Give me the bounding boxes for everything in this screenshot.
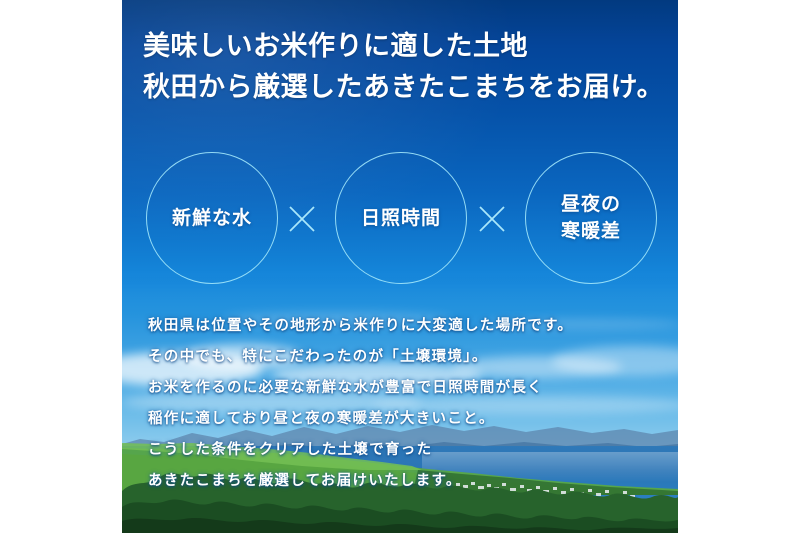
factor-circles-row: 新鮮な水 日照時間 昼夜の 寒暖差 (122, 150, 678, 290)
body-line-2: その中でも、特にこだわったのが「土壌環境」。 (148, 342, 573, 373)
headline-line-1: 美味しいお米作りに適した土地 (143, 26, 664, 67)
promo-banner-page: 美味しいお米作りに適した土地 秋田から厳選したあきたこまちをお届け。 新鮮な水 … (0, 0, 800, 533)
body-line-3: お米を作るのに必要な新鮮な水が豊富で日照時間が長く (148, 373, 573, 404)
page-margin-left (0, 0, 122, 533)
multiply-icon (477, 204, 507, 234)
page-margin-right (678, 0, 800, 533)
headline-line-2: 秋田から厳選したあきたこまちをお届け。 (143, 67, 664, 108)
body-line-1: 秋田県は位置やその地形から米作りに大変適した場所です。 (148, 311, 573, 342)
factor-circle-temperature-range: 昼夜の 寒暖差 (525, 152, 657, 284)
factor-circle-fresh-water: 新鮮な水 (146, 152, 278, 284)
factor-label: 昼夜の 寒暖差 (561, 191, 621, 245)
multiply-icon (287, 204, 317, 234)
page-title: 美味しいお米作りに適した土地 秋田から厳選したあきたこまちをお届け。 (143, 26, 664, 108)
factor-circle-sunshine-hours: 日照時間 (335, 152, 467, 284)
banner-panel: 美味しいお米作りに適した土地 秋田から厳選したあきたこまちをお届け。 新鮮な水 … (122, 0, 678, 533)
body-line-5: こうした条件をクリアした土壌で育った (148, 435, 573, 466)
factor-label: 日照時間 (361, 205, 441, 232)
factor-label: 新鮮な水 (172, 205, 252, 232)
body-line-4: 稲作に適しており昼と夜の寒暖差が大きいこと。 (148, 404, 573, 435)
body-description: 秋田県は位置やその地形から米作りに大変適した場所です。 その中でも、特にこだわっ… (148, 311, 573, 497)
body-line-6: あきたこまちを厳選してお届けいたします。 (148, 466, 573, 497)
